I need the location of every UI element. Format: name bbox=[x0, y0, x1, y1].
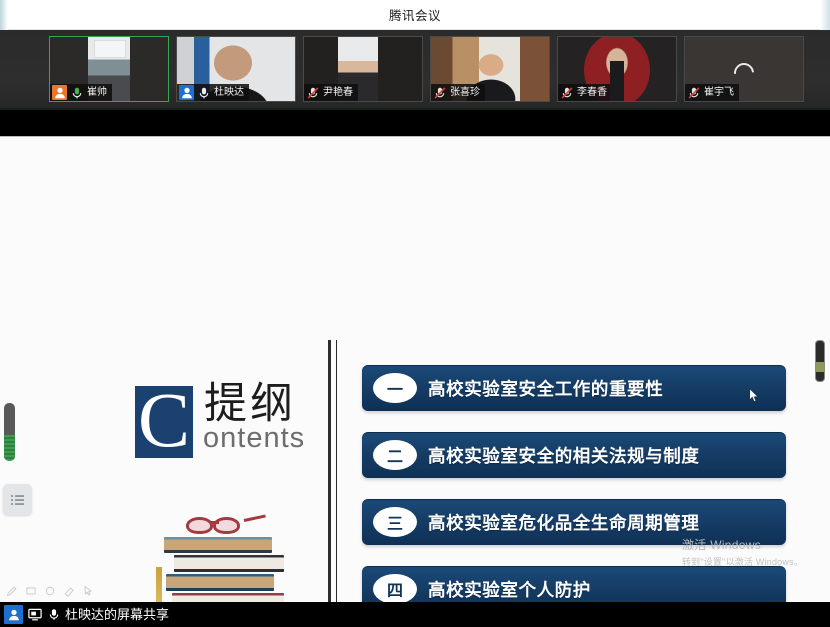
participant-tile-4[interactable]: 李春香 bbox=[557, 36, 677, 102]
participant-tile-2[interactable]: 尹艳春 bbox=[303, 36, 423, 102]
contents-title-cn: 提纲 bbox=[204, 383, 305, 426]
titlebar-right-gradient bbox=[820, 0, 830, 30]
mic-on-icon bbox=[197, 86, 211, 100]
glasses-bridge bbox=[211, 521, 219, 524]
vertical-divider-thin bbox=[336, 340, 337, 627]
participant-name-2: 尹艳春 bbox=[323, 88, 353, 98]
participant-namebar-2: 尹艳春 bbox=[304, 84, 358, 101]
audio-level-fill-right bbox=[816, 362, 825, 372]
contents-letter-box: C bbox=[135, 386, 193, 458]
windows-activation-watermark: 激活 Windows 转到"设置"以激活 Windows。 bbox=[682, 536, 803, 568]
letterbox-hairline bbox=[0, 108, 830, 110]
audio-level-meter-left bbox=[4, 403, 15, 461]
vertical-divider-thick bbox=[328, 340, 331, 627]
titlebar-left-gradient bbox=[0, 0, 8, 30]
list-icon bbox=[10, 494, 26, 506]
audio-level-meter-right bbox=[815, 340, 825, 382]
avatar-icon bbox=[179, 85, 194, 100]
app-title: 腾讯会议 bbox=[389, 5, 441, 24]
contents-title-en: ontents bbox=[203, 424, 305, 453]
participant-name-1: 杜映达 bbox=[214, 88, 244, 98]
participant-namebar-0: 崔帅 bbox=[50, 84, 112, 101]
contents-text-block: 提纲 ontents bbox=[204, 383, 305, 453]
participant-namebar-5: 崔宇飞 bbox=[685, 84, 739, 101]
contents-item-number-0: 一 bbox=[373, 373, 417, 403]
participant-namebar-4: 李春香 bbox=[558, 84, 612, 101]
mic-muted-icon bbox=[433, 86, 447, 100]
pen-icon[interactable] bbox=[6, 585, 18, 597]
avatar-icon bbox=[4, 605, 23, 624]
participant-name-3: 张喜珍 bbox=[450, 88, 480, 98]
glasses-arm bbox=[244, 514, 266, 522]
cursor-icon[interactable] bbox=[82, 585, 94, 597]
participant-namebar-3: 张喜珍 bbox=[431, 84, 485, 101]
presentation-slide: C 提纲 ontents bbox=[0, 137, 830, 602]
shape-icon[interactable] bbox=[25, 585, 37, 597]
contents-item-number-1: 二 bbox=[373, 440, 417, 470]
mic-muted-icon bbox=[306, 86, 320, 100]
contents-heading: C 提纲 ontents bbox=[135, 386, 305, 458]
book-3 bbox=[166, 574, 274, 591]
shared-screen-area: C 提纲 ontents bbox=[0, 136, 830, 602]
participant-name-0: 崔帅 bbox=[87, 88, 107, 98]
contents-item-label-3: 高校实验室个人防护 bbox=[428, 577, 591, 602]
letterbox-top bbox=[0, 108, 830, 136]
contents-item-label-0: 高校实验室安全工作的重要性 bbox=[428, 376, 663, 401]
contents-item-label-2: 高校实验室危化品全生命周期管理 bbox=[428, 510, 700, 535]
mic-muted-icon bbox=[687, 86, 701, 100]
annotation-toolbar[interactable] bbox=[6, 585, 94, 597]
audio-level-fill bbox=[4, 435, 15, 461]
contents-item-number-2: 三 bbox=[373, 507, 417, 537]
participant-tile-5[interactable]: 崔宇飞 bbox=[684, 36, 804, 102]
watermark-line-1: 激活 Windows bbox=[682, 536, 803, 553]
title-bar: 腾讯会议 bbox=[0, 0, 830, 30]
avatar-icon bbox=[52, 85, 67, 100]
participant-tile-3[interactable]: 张喜珍 bbox=[430, 36, 550, 102]
glasses-right-lens bbox=[213, 517, 240, 534]
participant-tile-0[interactable]: 崔帅 bbox=[49, 36, 169, 102]
mic-muted-icon bbox=[560, 86, 574, 100]
watermark-line-2: 转到"设置"以激活 Windows。 bbox=[682, 555, 803, 568]
contents-item-label-1: 高校实验室安全的相关法规与制度 bbox=[428, 443, 700, 468]
status-bar: 杜映达的屏幕共享 bbox=[0, 602, 830, 627]
mic-icon[interactable] bbox=[47, 607, 61, 622]
participant-name-5: 崔宇飞 bbox=[704, 88, 734, 98]
participant-namebar-1: 杜映达 bbox=[177, 84, 249, 101]
status-bar-text: 杜映达的屏幕共享 bbox=[65, 608, 169, 621]
participant-video-strip: 崔帅 杜映达 bbox=[0, 30, 830, 108]
contents-item-0[interactable]: 一 高校实验室安全工作的重要性 bbox=[362, 365, 786, 411]
contents-letter: C bbox=[138, 390, 190, 449]
participant-name-4: 李春香 bbox=[577, 88, 607, 98]
participant-tile-1[interactable]: 杜映达 bbox=[176, 36, 296, 102]
side-menu-button[interactable] bbox=[3, 484, 32, 515]
glasses-icon bbox=[186, 515, 258, 535]
contents-item-number-3: 四 bbox=[373, 574, 417, 604]
meeting-window: 腾讯会议 崔帅 bbox=[0, 0, 830, 627]
mic-on-icon bbox=[70, 86, 84, 100]
mouse-cursor bbox=[749, 388, 759, 403]
glasses-left-lens bbox=[186, 517, 213, 534]
screen-share-icon[interactable] bbox=[27, 607, 43, 622]
circle-icon[interactable] bbox=[44, 585, 56, 597]
book-1 bbox=[164, 537, 272, 553]
book-2 bbox=[174, 555, 284, 572]
contents-list: 一 高校实验室安全工作的重要性 二 高校实验室安全的相关法规与制度 三 高校实验… bbox=[362, 365, 786, 627]
contents-item-1[interactable]: 二 高校实验室安全的相关法规与制度 bbox=[362, 432, 786, 478]
eraser-icon[interactable] bbox=[63, 585, 75, 597]
